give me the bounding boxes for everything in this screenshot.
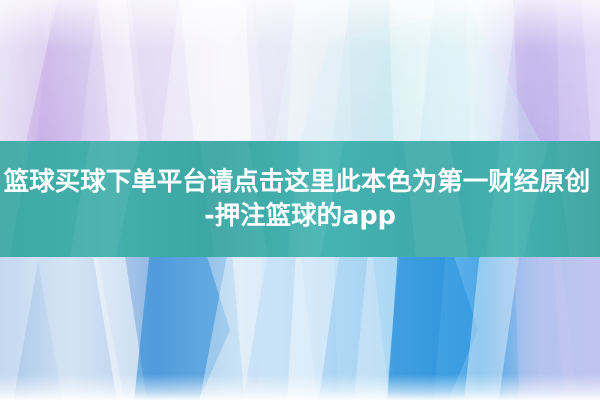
banner-image: 篮球买球下单平台请点击这里此本色为第一财经原创 -押注篮球的app · · xyxy=(0,0,600,400)
caption-line-secondary: -押注篮球的app xyxy=(204,201,396,231)
caption-line-primary: 篮球买球下单平台请点击这里此本色为第一财经原创 xyxy=(0,167,600,197)
bottom-watermark: · · xyxy=(284,379,324,388)
caption-band: 篮球买球下单平台请点击这里此本色为第一财经原创 -押注篮球的app xyxy=(0,141,600,257)
